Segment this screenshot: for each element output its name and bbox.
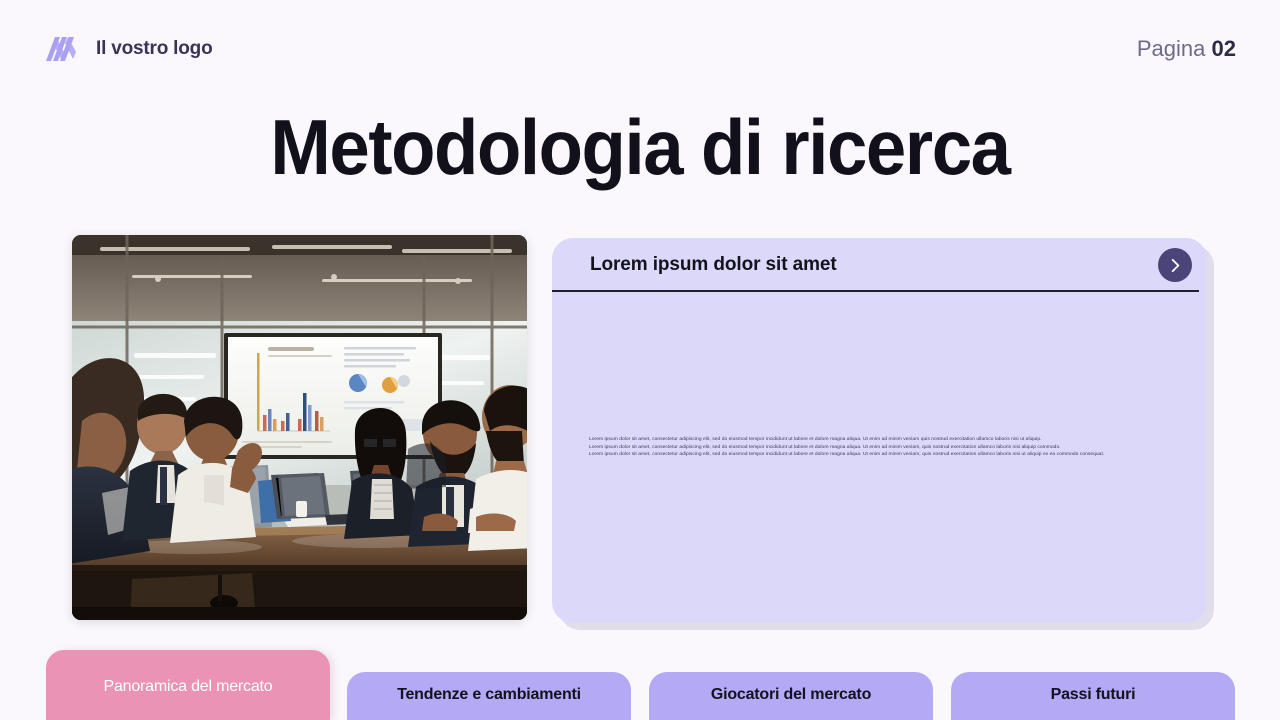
tab-label: Tendenze e cambiamenti bbox=[397, 672, 581, 704]
brand-name: Il vostro logo bbox=[96, 38, 212, 60]
card-title: Lorem ipsum dolor sit amet bbox=[590, 254, 837, 276]
tab-tendenze-e-cambiamenti[interactable]: Tendenze e cambiamenti bbox=[347, 672, 631, 720]
card-body: Lorem ipsum dolor sit amet, consectetur … bbox=[589, 436, 1180, 459]
page-title: Metodologia di ricerca bbox=[45, 104, 1235, 190]
tab-label: Panoramica del mercato bbox=[103, 650, 272, 696]
tab-giocatori-del-mercato[interactable]: Giocatori del mercato bbox=[649, 672, 933, 720]
next-button[interactable] bbox=[1158, 248, 1192, 282]
tab-panoramica-del-mercato[interactable]: Panoramica del mercato bbox=[46, 650, 330, 720]
tab-label: Passi futuri bbox=[1051, 672, 1136, 704]
card-header: Lorem ipsum dolor sit amet bbox=[552, 238, 1207, 291]
page-indicator: Pagina 02 bbox=[1137, 36, 1236, 62]
header-divider bbox=[552, 290, 1199, 292]
body-paragraph: Lorem ipsum dolor sit amet, consectetur … bbox=[589, 436, 1180, 444]
tab-label: Giocatori del mercato bbox=[711, 672, 871, 704]
tab-passi-futuri[interactable]: Passi futuri bbox=[951, 672, 1235, 720]
brand: Il vostro logo bbox=[44, 34, 212, 64]
content-card: Lorem ipsum dolor sit amet Lorem ipsum d… bbox=[552, 238, 1207, 623]
chevron-right-icon bbox=[1168, 258, 1183, 273]
zigzag-m-logo-icon bbox=[44, 34, 84, 64]
body-paragraph: Lorem ipsum dolor sit amet, consectetur … bbox=[589, 451, 1180, 459]
page-number: 02 bbox=[1212, 36, 1236, 61]
meeting-photo bbox=[72, 235, 527, 620]
body-paragraph: Lorem ipsum dolor sit amet, consectetur … bbox=[589, 444, 1180, 452]
page-label: Pagina bbox=[1137, 36, 1206, 61]
slide: Il vostro logo Pagina 02 Metodologia di … bbox=[0, 0, 1280, 720]
